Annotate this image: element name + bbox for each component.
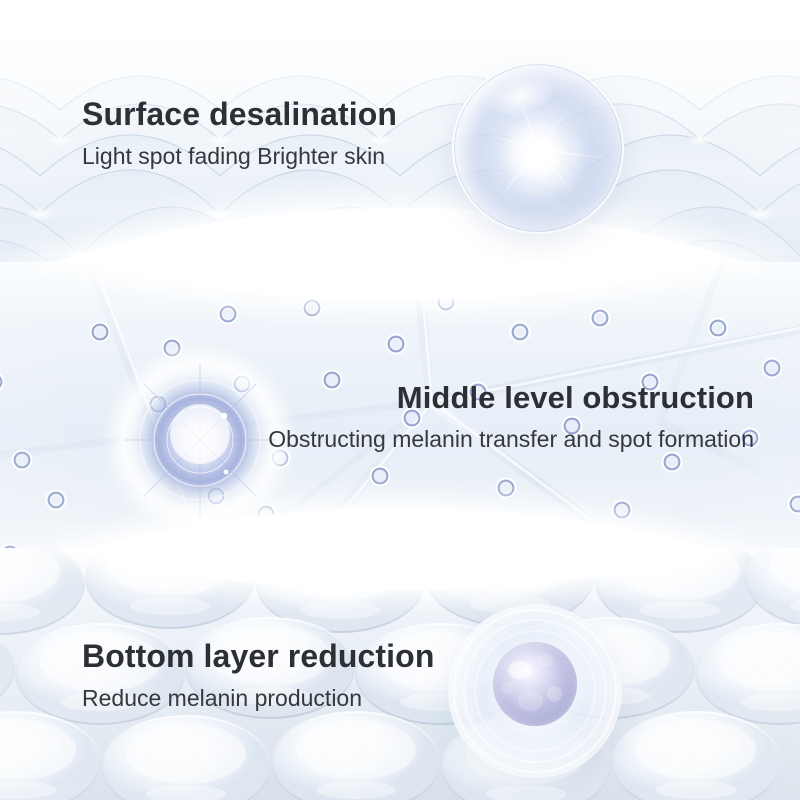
sphere-spark <box>528 143 538 153</box>
middle-title: Middle level obstruction <box>0 382 754 413</box>
cell-nucleus <box>493 642 577 726</box>
middle-text-block: Middle level obstruction Obstructing mel… <box>0 382 754 451</box>
infographic-canvas: Surface desalination Light spot fading B… <box>0 0 800 800</box>
melanocyte-cell-sphere <box>448 604 622 778</box>
bottom-title: Bottom layer reduction <box>82 640 434 672</box>
bottom-subtitle: Reduce melanin production <box>82 687 434 710</box>
surface-subtitle: Light spot fading Brighter skin <box>82 145 397 168</box>
bottom-text-block: Bottom layer reduction Reduce melanin pr… <box>82 640 434 710</box>
surface-text-block: Surface desalination Light spot fading B… <box>82 98 397 168</box>
surface-title: Surface desalination <box>82 98 397 130</box>
middle-subtitle: Obstructing melanin transfer and spot fo… <box>0 428 754 451</box>
surface-bubble-sphere <box>452 62 624 234</box>
